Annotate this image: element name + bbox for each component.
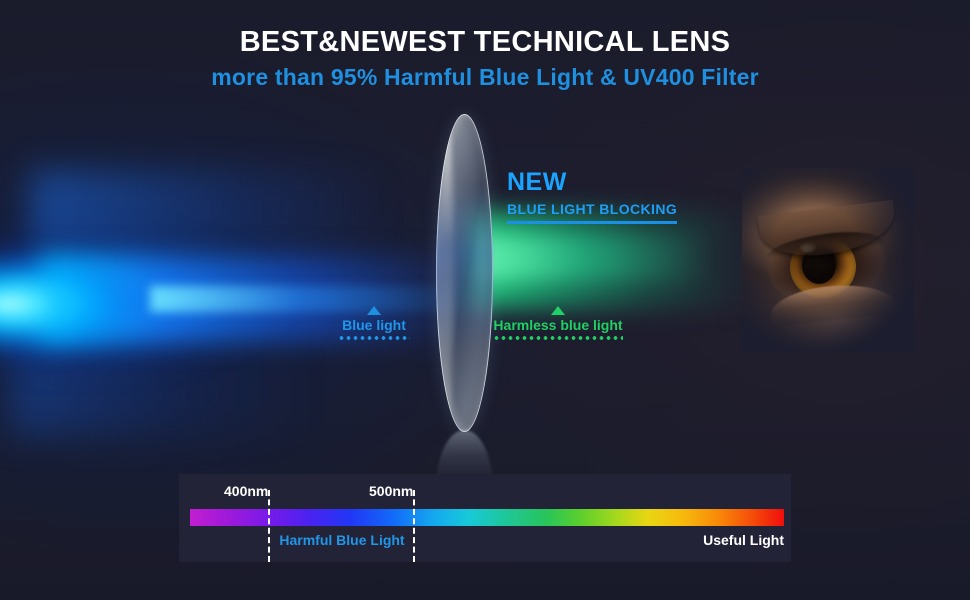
blue-beam-streak	[150, 286, 480, 312]
spectrum-gradient-bar	[190, 509, 784, 526]
harmless-light-tag-dotted-rule	[493, 336, 623, 340]
callout-underline	[507, 221, 677, 224]
harmless-light-tag-label: Harmless blue light	[493, 318, 623, 333]
spectrum-panel: 400nm 500nm Harmful Blue Light Useful Li…	[179, 474, 791, 562]
triangle-up-icon	[551, 306, 565, 315]
eye-photo	[742, 168, 914, 352]
tick-line-400nm	[268, 490, 270, 562]
new-badge-label: NEW	[507, 170, 677, 195]
harmless-light-tag: Harmless blue light	[493, 306, 623, 340]
page-subtitle: more than 95% Harmful Blue Light & UV400…	[0, 64, 970, 91]
eye-vignette	[742, 168, 914, 352]
triangle-up-icon	[367, 306, 381, 315]
blue-light-tag-dotted-rule	[338, 336, 410, 340]
infographic-canvas: BEST&NEWEST TECHNICAL LENS more than 95%…	[0, 0, 970, 600]
blue-light-blocking-label: BLUE LIGHT BLOCKING	[507, 201, 677, 217]
blue-light-tag-label: Blue light	[338, 318, 410, 333]
harmful-band-label: Harmful Blue Light	[270, 532, 414, 548]
tick-label-500nm: 500nm	[369, 483, 413, 499]
tick-line-500nm	[413, 490, 415, 562]
tick-label-400nm: 400nm	[224, 483, 268, 499]
green-beam-core	[480, 236, 710, 280]
lens-shape	[436, 114, 493, 432]
useful-band-label: Useful Light	[609, 532, 784, 548]
lens-highlight	[441, 128, 454, 416]
blue-beam-hotspot	[0, 276, 90, 332]
new-feature-callout: NEW BLUE LIGHT BLOCKING	[507, 170, 677, 224]
page-title: BEST&NEWEST TECHNICAL LENS	[0, 26, 970, 59]
blue-light-tag: Blue light	[338, 306, 410, 340]
